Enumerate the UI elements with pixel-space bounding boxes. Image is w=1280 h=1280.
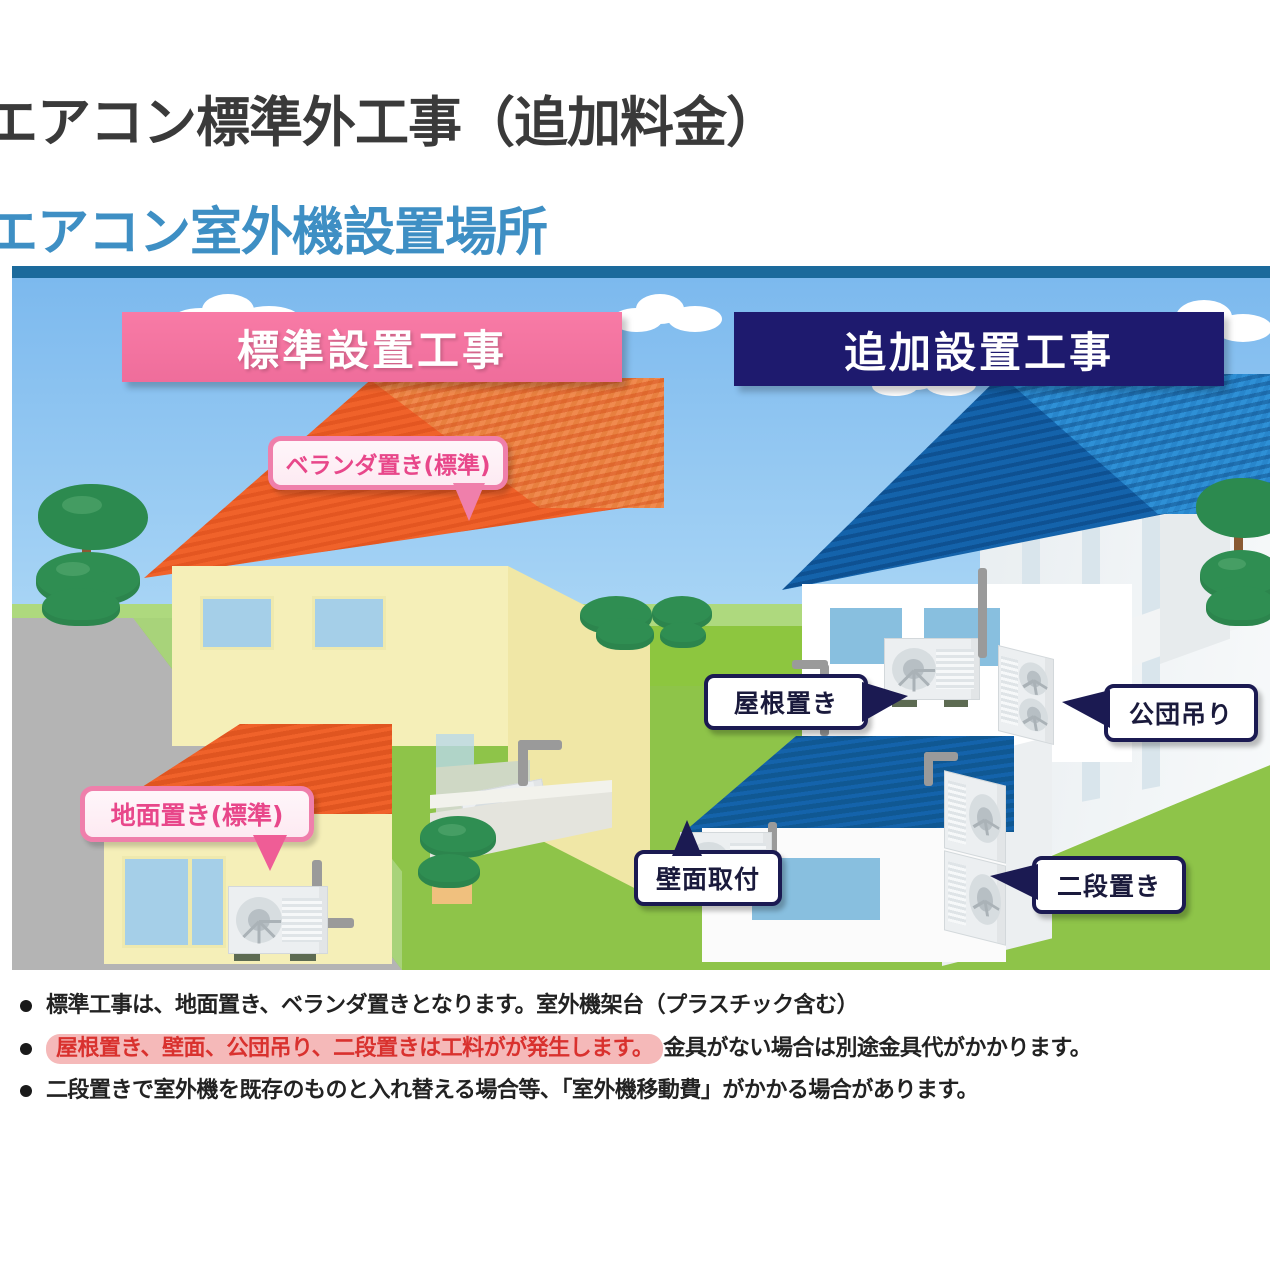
bullet-icon bbox=[20, 1043, 32, 1055]
callout-tail-icon bbox=[862, 682, 908, 722]
callout-roof-label: 屋根置き bbox=[734, 684, 838, 720]
bush-highlight bbox=[1218, 558, 1246, 570]
banner-standard-install: 標準設置工事 bbox=[122, 312, 622, 382]
panel-top-bar bbox=[12, 266, 1270, 278]
page-subtitle: エアコン室外機設置場所 bbox=[0, 190, 547, 265]
callout-wall-mount: 壁面取付 bbox=[634, 850, 782, 906]
list-item: 標準工事は、地面置き、ベランダ置きとなります。室外機架台（プラスチック含む） bbox=[0, 986, 1280, 1029]
callout-tail-icon bbox=[990, 864, 1038, 900]
callout-kodan-hanging: 公団吊り bbox=[1104, 684, 1258, 742]
list-item: 二段置きで室外機を既存のものと入れ替える場合等、「室外機移動費」がかかる場合があ… bbox=[0, 1071, 1280, 1114]
callout-tail-icon bbox=[253, 835, 287, 871]
banner-additional-install: 追加設置工事 bbox=[734, 312, 1224, 386]
left-house-upper-wall bbox=[172, 566, 508, 746]
callout-roof-placement: 屋根置き bbox=[704, 674, 868, 730]
bush-icon bbox=[596, 618, 654, 650]
notes-list: 標準工事は、地面置き、ベランダ置きとなります。室外機架台（プラスチック含む） 屋… bbox=[0, 986, 1280, 1114]
outdoor-unit-ground bbox=[228, 886, 328, 954]
refrigerant-pipe bbox=[978, 568, 987, 658]
installation-diagram: 標準設置工事 追加設置工事 ベランダ置き(標準) 地面置き(標準) 屋根置き 公… bbox=[12, 266, 1270, 970]
callout-two-tier-placement: 二段置き bbox=[1032, 856, 1186, 914]
bush-icon bbox=[660, 622, 706, 648]
banner-additional-label: 追加設置工事 bbox=[844, 319, 1114, 380]
outdoor-unit-kodan-hanging bbox=[998, 645, 1054, 745]
callout-kodan-label: 公団吊り bbox=[1129, 695, 1233, 731]
note-text: 二段置きで室外機を既存のものと入れ替える場合等、「室外機移動費」がかかる場合があ… bbox=[46, 1077, 978, 1105]
banner-standard-label: 標準設置工事 bbox=[237, 317, 507, 378]
list-item: 屋根置き、壁面、公団吊り、二段置きは工料がが発生します。金具がない場合は別途金具… bbox=[0, 1029, 1280, 1072]
bush-highlight bbox=[438, 824, 466, 836]
note-text: 標準工事は、地面置き、ベランダ置きとなります。室外機架台（プラスチック含む） bbox=[46, 992, 858, 1020]
note-highlight: 屋根置き、壁面、公団吊り、二段置きは工料がが発生します。 bbox=[46, 1034, 663, 1064]
left-house-window bbox=[312, 596, 386, 650]
callout-veranda-label: ベランダ置き(標準) bbox=[285, 446, 490, 480]
outdoor-unit-two-tier-upper bbox=[944, 770, 1006, 863]
refrigerant-pipe bbox=[792, 660, 828, 669]
cloud-icon bbox=[612, 292, 722, 332]
note-text: 屋根置き、壁面、公団吊り、二段置きは工料がが発生します。金具がない場合は別途金具… bbox=[46, 1035, 1091, 1063]
left-house-window-divider bbox=[188, 856, 192, 948]
bush-icon bbox=[42, 588, 120, 626]
bullet-icon bbox=[20, 1085, 32, 1097]
callout-ground-label: 地面置き(標準) bbox=[111, 796, 284, 832]
callout-tail-icon bbox=[672, 820, 702, 856]
bush-icon bbox=[420, 816, 496, 858]
note-plain-after: 金具がない場合は別途金具代がかかります。 bbox=[663, 1036, 1091, 1061]
callout-wall-label: 壁面取付 bbox=[656, 860, 760, 896]
bush-highlight bbox=[56, 562, 90, 576]
bush-icon bbox=[418, 854, 480, 888]
callout-tail-icon bbox=[453, 483, 485, 521]
page-title: エアコン標準外工事（追加料金） bbox=[0, 78, 779, 157]
left-house-window bbox=[200, 596, 274, 650]
left-house-lower-window bbox=[122, 856, 226, 948]
bullet-icon bbox=[20, 1000, 32, 1012]
callout-ground-placement: 地面置き(標準) bbox=[80, 786, 314, 842]
callout-veranda-placement: ベランダ置き(標準) bbox=[268, 436, 508, 490]
callout-tail-icon bbox=[1062, 690, 1110, 728]
refrigerant-pipe bbox=[518, 740, 562, 750]
note-plain-before: 標準工事は、地面置き、ベランダ置きとなります。室外機架台（プラスチック含む） bbox=[46, 993, 858, 1018]
bush-icon bbox=[1206, 586, 1270, 626]
refrigerant-pipe bbox=[924, 752, 958, 761]
tree-icon bbox=[38, 484, 148, 550]
tree-highlight bbox=[62, 496, 102, 514]
callout-nidan-label: 二段置き bbox=[1057, 867, 1161, 903]
note-plain-before: 二段置きで室外機を既存のものと入れ替える場合等、「室外機移動費」がかかる場合があ… bbox=[46, 1078, 978, 1103]
